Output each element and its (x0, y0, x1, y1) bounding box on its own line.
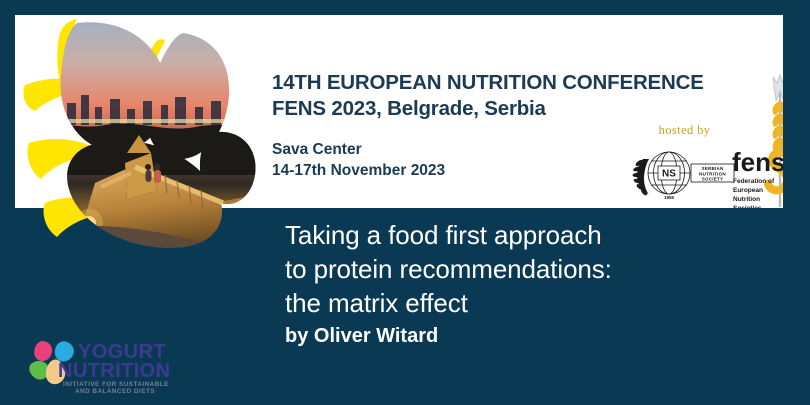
conference-text-block: 14TH EUROPEAN NUTRITION CONFERENCE FENS … (272, 70, 632, 181)
yogurt-in-nutrition-logo[interactable]: YOGURT ® NUTRITION INITIATIVE FOR SUSTAI… (20, 332, 195, 394)
yin-registered-mark: ® (148, 344, 154, 352)
fens-sub-line1: Federation of (733, 178, 775, 185)
hosted-by-label: hosted by (632, 123, 737, 138)
serbian-nutrition-society-logo: NS SERBIAN NUTRITION SOCIETY 1956 (632, 141, 737, 203)
fens-sub-line2: European (733, 187, 763, 194)
sns-name-line2: NUTRITION (699, 172, 726, 177)
fens-logo: fens Federation of European Nutrition So… (730, 67, 783, 208)
conference-venue: Sava Center (272, 139, 632, 160)
hosted-by-block: hosted by (632, 123, 737, 203)
presentation-title-line3: the matrix effect (285, 286, 785, 320)
yin-word-nutrition: NUTRITION (58, 360, 170, 382)
presentation-slide: 14TH EUROPEAN NUTRITION CONFERENCE FENS … (0, 0, 810, 405)
presentation-speaker: by Oliver Witard (285, 322, 785, 350)
presentation-title-block: Taking a food first approach to protein … (285, 218, 785, 350)
yin-tagline-line2: AND BALANCED DIETS (75, 388, 155, 394)
yin-tagline-line1: INITIATIVE FOR SUSTAINABLE (63, 381, 169, 388)
fens-wordmark: fens (732, 147, 783, 177)
conference-title-line1: 14TH EUROPEAN NUTRITION CONFERENCE (272, 70, 632, 96)
presentation-title-line2: to protein recommendations: (285, 252, 785, 286)
conference-dates: 14-17th November 2023 (272, 160, 632, 181)
fens-sub-line3: Nutrition (733, 196, 760, 203)
sns-name-line1: SERBIAN (701, 166, 723, 171)
conference-venue-block: Sava Center 14-17th November 2023 (272, 139, 632, 181)
sns-founded-year: 1956 (664, 195, 675, 200)
sns-initials: NS (662, 169, 676, 180)
presentation-title-line1: Taking a food first approach (285, 218, 785, 252)
sns-name-line3: SOCIETY (702, 177, 724, 182)
conference-banner: 14TH EUROPEAN NUTRITION CONFERENCE FENS … (15, 15, 783, 208)
fens-sub-line4: Societies (733, 205, 762, 208)
conference-title-line2: FENS 2023, Belgrade, Serbia (272, 96, 632, 122)
